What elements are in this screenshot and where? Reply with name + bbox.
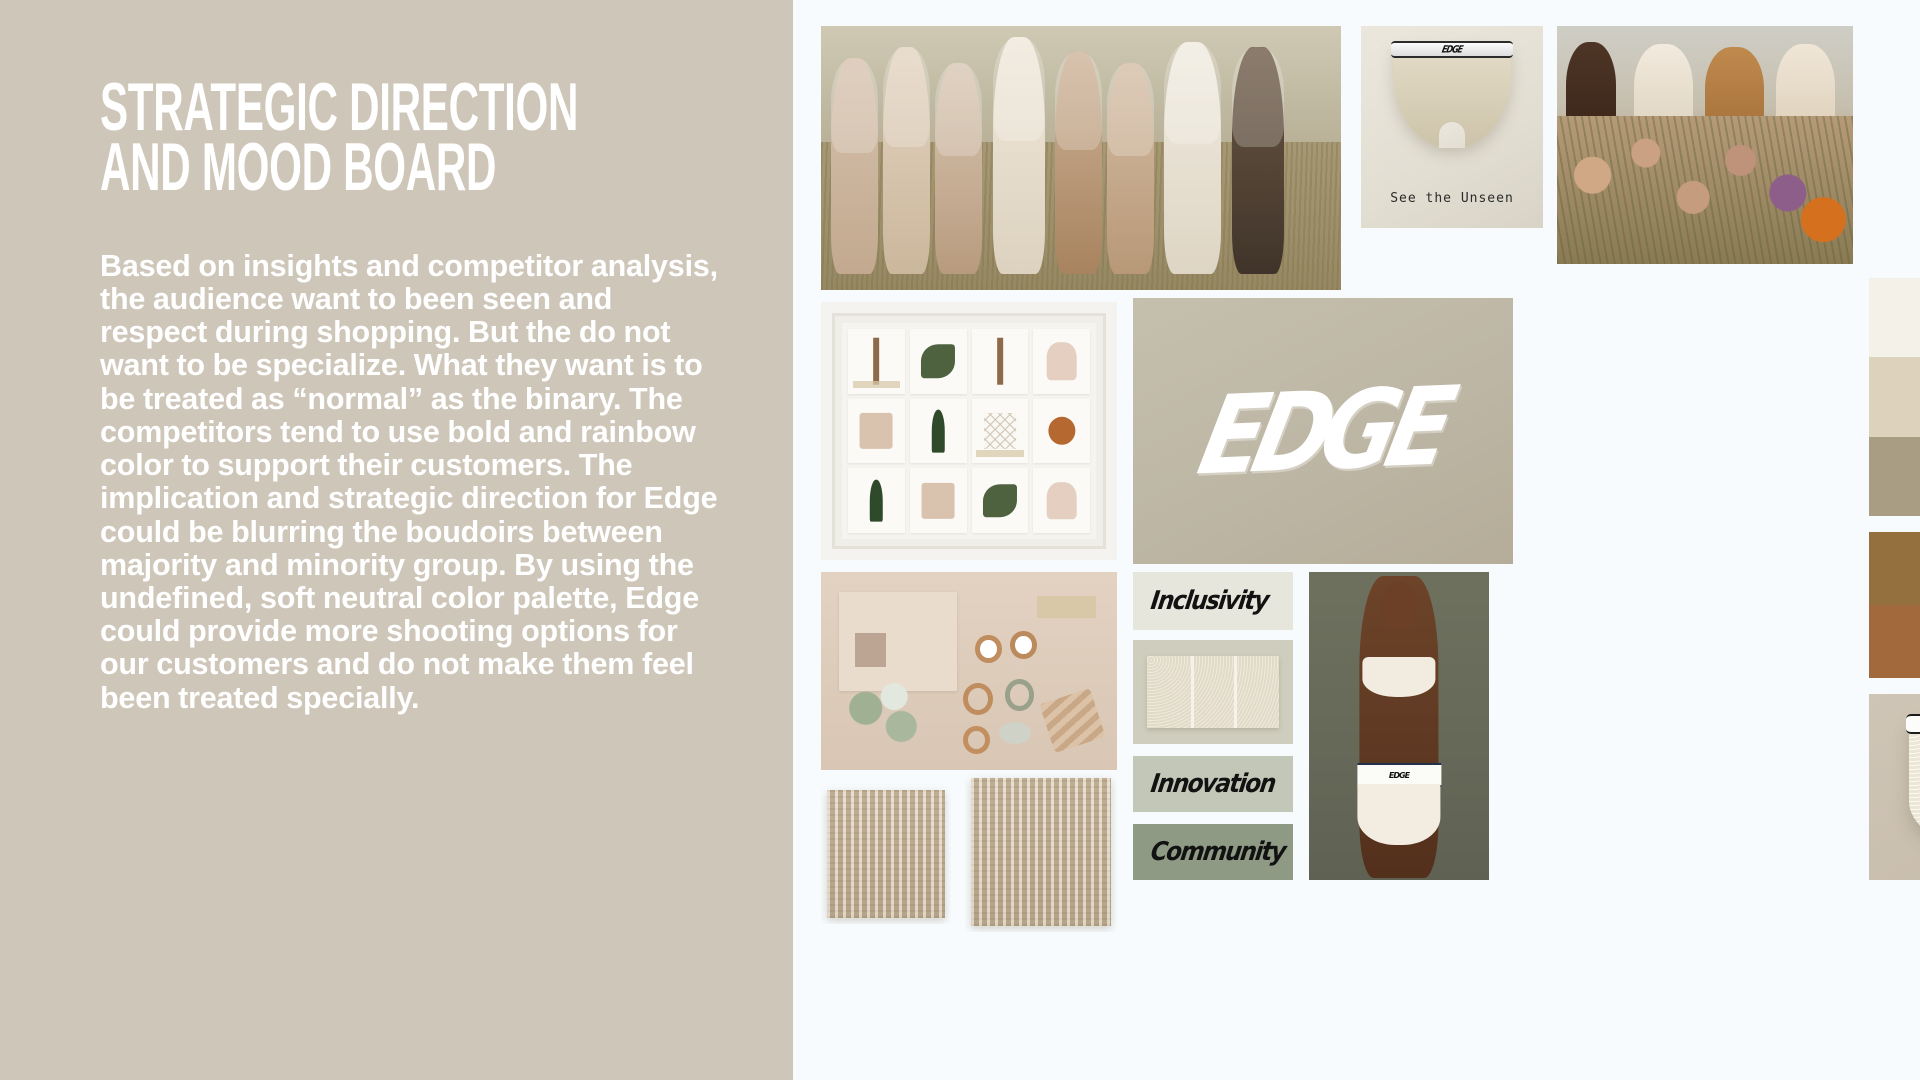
specimen-card: [972, 468, 1029, 533]
high-waist-brief-product: EDGE: [1393, 44, 1511, 148]
color-cell: [1869, 532, 1920, 605]
tile-knit-swatch-a: [821, 784, 951, 924]
body-paragraph: Based on insights and competitor analysi…: [100, 250, 723, 715]
folded-cloth: [1147, 656, 1279, 728]
tile-see-the-unseen-ad: EDGE See the Unseen: [1361, 26, 1543, 228]
material-ring: [963, 726, 990, 754]
tile-boxer-brief-photo: EDGE: [1869, 694, 1920, 880]
brief: [1358, 784, 1440, 844]
collage-grid: [842, 323, 1096, 539]
material-ring: [975, 635, 1002, 663]
material-ring: [1005, 679, 1035, 711]
figure: [993, 37, 1045, 275]
keyword-inclusivity: Inclusivity: [1133, 572, 1293, 630]
specimen-card: [972, 329, 1029, 394]
stone-sample: [999, 722, 1032, 744]
flower-bed: [1557, 116, 1853, 264]
specimen-card: [972, 399, 1029, 464]
edge-graffiti-logo: EDGE: [1189, 363, 1457, 499]
figure: [1055, 52, 1102, 274]
tile-edge-logo: EDGE: [1133, 298, 1513, 564]
tile-tone-block-stack: [1869, 278, 1920, 516]
tile-color-grid: [1869, 532, 1920, 678]
figure: [1232, 47, 1284, 274]
knit-texture: [971, 778, 1111, 926]
tone-block: [1869, 357, 1920, 436]
keyword-community: Community: [1133, 824, 1293, 880]
tone-block: [1869, 437, 1920, 516]
specimen-card: [848, 399, 905, 464]
keyword-label: Innovation: [1149, 769, 1277, 798]
material-ring: [1010, 631, 1037, 659]
moodboard-grid: EDGE See the Unseen EDGE: [793, 0, 1920, 1080]
tile-towel-swatch: [1133, 640, 1293, 744]
bralette: [1363, 657, 1436, 696]
foliage-sprig: [839, 675, 928, 758]
figure: [935, 63, 982, 274]
model-figure: EDGE: [1359, 576, 1438, 878]
specimen-card: [848, 468, 905, 533]
page-title-line-2: AND MOOD BOARD: [100, 138, 718, 198]
tile-bulletin-material-board: [821, 572, 1117, 770]
specimen-card: [1033, 329, 1090, 394]
figure: [1107, 63, 1154, 274]
specimen-card: [1033, 468, 1090, 533]
tile-field-group-photo: [821, 26, 1341, 290]
page-title: STRATEGIC DIRECTION AND MOOD BOARD: [100, 78, 718, 198]
waistband: EDGE: [1906, 714, 1920, 734]
specimen-card: [910, 468, 967, 533]
specimen-card: [848, 329, 905, 394]
keyword-innovation: Innovation: [1133, 756, 1293, 812]
keyword-label: Community: [1149, 837, 1287, 866]
tile-framed-specimen-collage: [821, 302, 1117, 560]
figure: [883, 47, 930, 274]
figure: [831, 58, 878, 274]
knit-texture: [827, 790, 945, 918]
slide-left-panel: STRATEGIC DIRECTION AND MOOD BOARD Based…: [0, 0, 793, 1080]
material-ring: [963, 683, 993, 715]
edge-waistband-logo: EDGE: [1389, 771, 1409, 780]
color-cell: [1869, 605, 1920, 678]
model-head: [1381, 582, 1417, 630]
specimen-card: [1033, 399, 1090, 464]
tile-flower-field-photo: [1557, 26, 1853, 264]
boxer-brief-product: EDGE: [1909, 718, 1920, 844]
specimen-card: [910, 399, 967, 464]
keyword-label: Inclusivity: [1149, 586, 1270, 615]
figure: [1164, 42, 1221, 274]
tone-block: [1869, 278, 1920, 357]
label-tag: [1037, 596, 1096, 618]
ad-caption: See the Unseen: [1361, 191, 1543, 206]
edge-waistband-logo: EDGE: [1441, 44, 1464, 55]
strip-stack: [1039, 688, 1106, 753]
tile-model-underwear-photo: EDGE: [1309, 572, 1489, 880]
tile-knit-swatch-b: [965, 772, 1117, 932]
waistband: EDGE: [1391, 41, 1513, 58]
specimen-card: [910, 329, 967, 394]
